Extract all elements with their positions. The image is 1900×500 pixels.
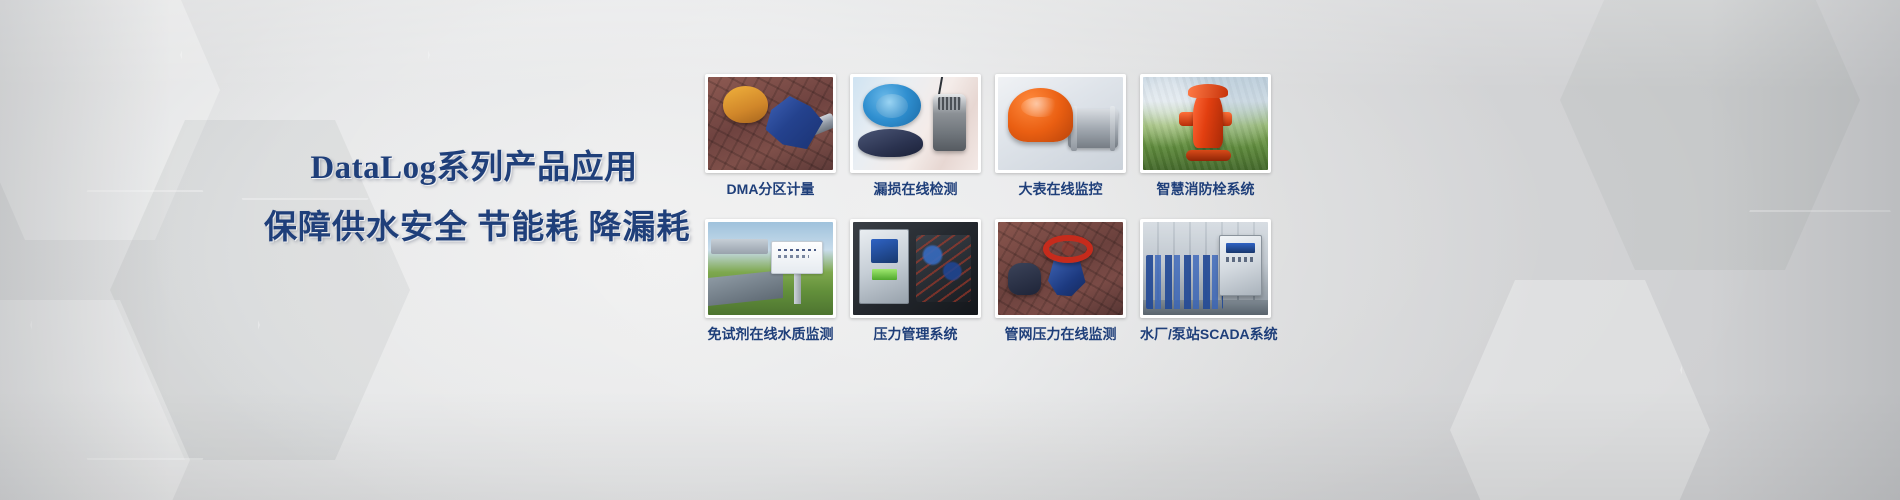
product-caption: 压力管理系统 (850, 325, 981, 343)
product-caption: 免试剂在线水质监测 (705, 325, 836, 343)
banner-headline: DataLog系列产品应用 保障供水安全 节能耗 降漏耗 (264, 146, 684, 250)
product-card-water-quality-monitoring[interactable]: 免试剂在线水质监测 (705, 219, 836, 343)
product-card-leak-detection[interactable]: 漏损在线检测 (850, 74, 981, 198)
product-thumbnail[interactable] (850, 74, 981, 173)
product-caption: 管网压力在线监测 (995, 325, 1126, 343)
product-card-pipe-network-pressure[interactable]: 管网压力在线监测 (995, 219, 1126, 343)
product-caption: 水厂/泵站SCADA系统 (1140, 325, 1271, 343)
product-thumbnail[interactable] (850, 219, 981, 318)
reagent-free-water-quality-photo (708, 222, 833, 315)
leak-detection-logger-photo (853, 77, 978, 170)
dma-zone-metering-photo (708, 77, 833, 170)
promotional-banner: DataLog系列产品应用 保障供水安全 节能耗 降漏耗 DMA分区计量 (0, 0, 1900, 500)
product-grid: DMA分区计量 漏损在线检测 (705, 74, 1283, 343)
smart-hydrant-photo (1143, 77, 1268, 170)
product-caption: DMA分区计量 (705, 180, 836, 198)
product-thumbnail[interactable] (1140, 74, 1271, 173)
product-grid-row: DMA分区计量 漏损在线检测 (705, 74, 1283, 198)
scada-system-photo (1143, 222, 1268, 315)
product-card-smart-hydrant[interactable]: 智慧消防栓系统 (1140, 74, 1271, 198)
product-thumbnail[interactable] (1140, 219, 1271, 318)
product-thumbnail[interactable] (995, 74, 1126, 173)
product-card-large-meter-monitoring[interactable]: 大表在线监控 (995, 74, 1126, 198)
product-card-pressure-management[interactable]: 压力管理系统 (850, 219, 981, 343)
headline-line-2: 保障供水安全 节能耗 降漏耗 (264, 206, 684, 250)
product-card-dma-zone-metering[interactable]: DMA分区计量 (705, 74, 836, 198)
product-thumbnail[interactable] (995, 219, 1126, 318)
product-card-scada-system[interactable]: 水厂/泵站SCADA系统 (1140, 219, 1271, 343)
pipe-network-pressure-photo (998, 222, 1123, 315)
headline-line-1: DataLog系列产品应用 (264, 146, 684, 190)
product-thumbnail[interactable] (705, 74, 836, 173)
product-caption: 漏损在线检测 (850, 180, 981, 198)
product-grid-row: 免试剂在线水质监测 压力管理系统 (705, 219, 1283, 343)
product-caption: 智慧消防栓系统 (1140, 180, 1271, 198)
pressure-management-photo (853, 222, 978, 315)
product-caption: 大表在线监控 (995, 180, 1126, 198)
product-thumbnail[interactable] (705, 219, 836, 318)
large-meter-monitoring-photo (998, 77, 1123, 170)
